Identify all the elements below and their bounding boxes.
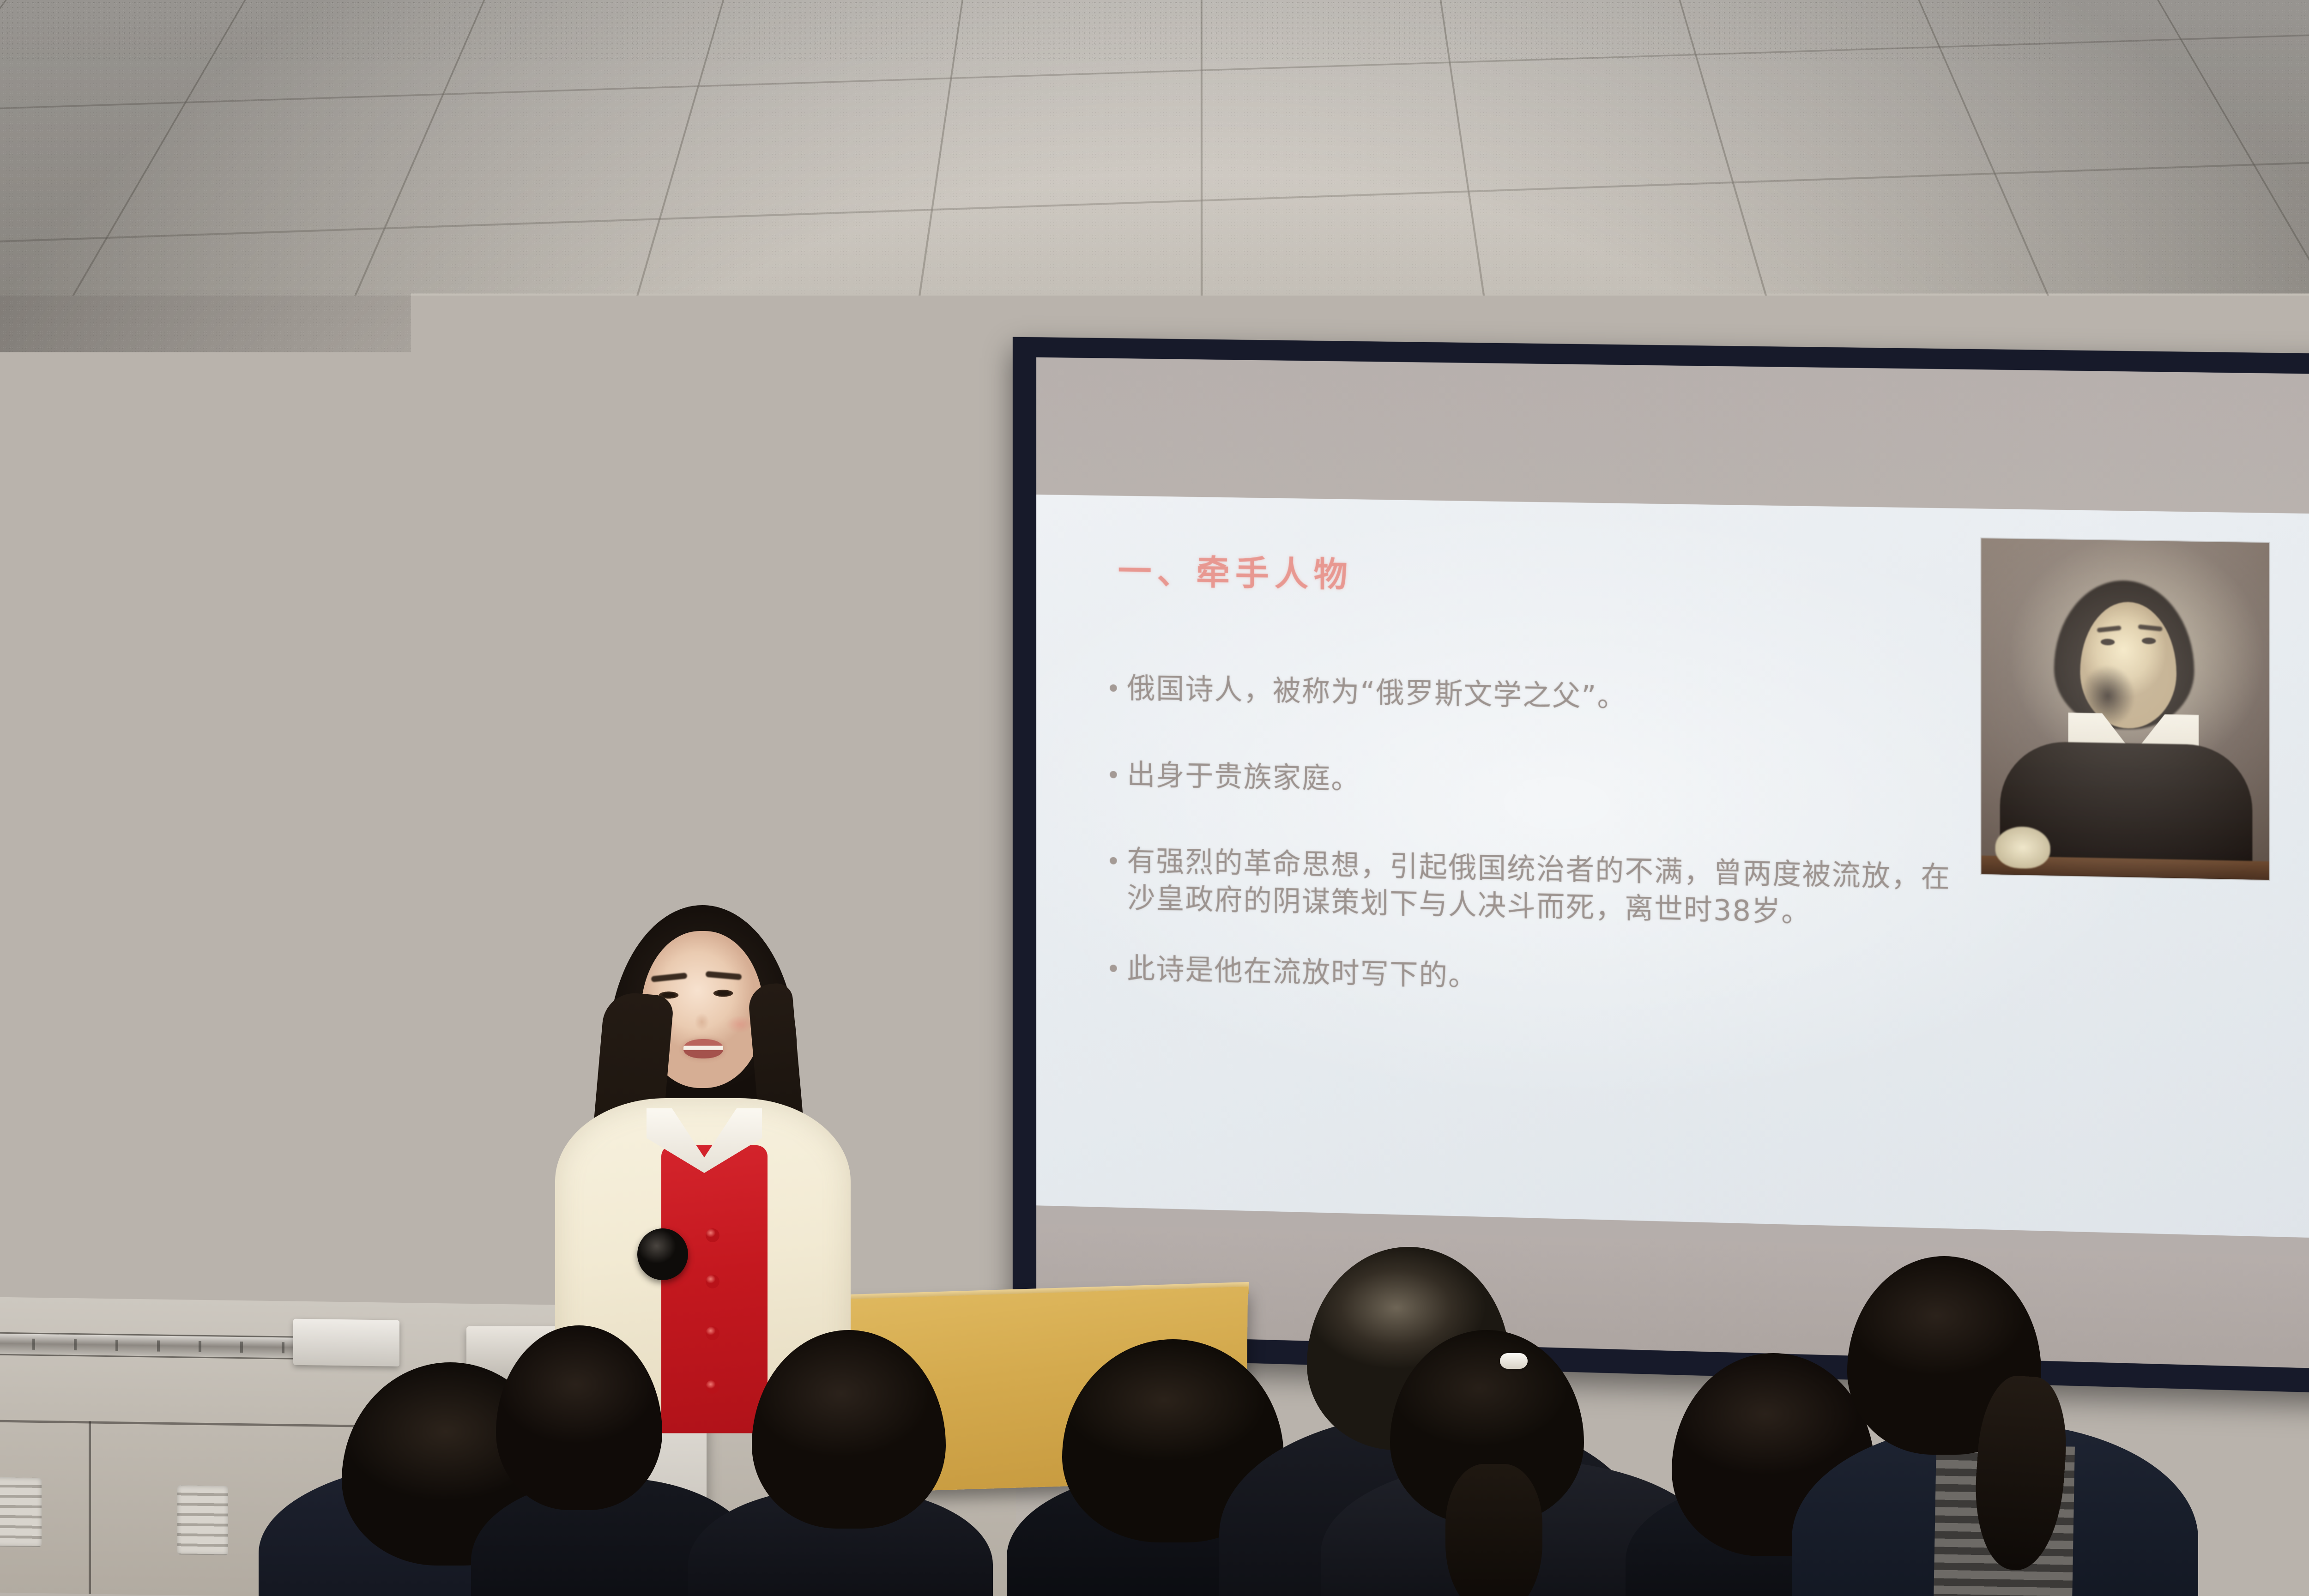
whiteboard-marker-3[interactable]: [615, 665, 631, 671]
projection-screen[interactable]: 一、牵手人物 俄国诗人，被称为“俄罗斯文学之父”。 出身于贵族家庭。 有强烈的革…: [1013, 337, 2309, 1394]
teacher-dress-button-2: [706, 1275, 719, 1288]
motto-char-4: 公: [562, 374, 715, 527]
slide-bullet-2-text: 出身于贵族家庭。: [1127, 756, 1360, 798]
projected-slide: 一、牵手人物 俄国诗人，被称为“俄罗斯文学之父”。 出身于贵族家庭。 有强烈的革…: [1036, 495, 2309, 1239]
teacher-lapel-microphone: [637, 1228, 688, 1280]
three-leaves-icon: [2170, 293, 2197, 317]
bullet-dot-icon: [1110, 684, 1117, 692]
pushkin-portrait-image: [1981, 538, 2269, 880]
whiteboard-eraser[interactable]: [873, 684, 886, 695]
classroom-photo-scene: THREELEAVES 立 身 为 公 假如生活欺骗了你 普希金: [0, 0, 2309, 1596]
cabinet-vent-2: [177, 1485, 228, 1555]
portrait-projector-glow: [1981, 538, 2269, 880]
bullet-dot-icon: [1110, 965, 1117, 972]
cabinet-vent-1: [0, 1477, 42, 1548]
teacher-mouth: [683, 1039, 723, 1058]
whiteboard-marker-2[interactable]: [351, 671, 367, 677]
teacher-dress-button-3: [706, 1326, 719, 1340]
wall-motto: 立 身 为 公: [0, 374, 715, 526]
audience-hand-1: [2249, 1372, 2309, 1441]
cabinet-seam-vertical: [89, 1421, 91, 1594]
audience-ponytail-6: [1445, 1464, 1542, 1596]
bullet-dot-icon: [1110, 857, 1117, 864]
cabinet-metal-rail: [0, 1332, 323, 1360]
slide-title: 一、牵手人物: [1118, 544, 1353, 597]
teacher-nose: [692, 1010, 712, 1034]
slide-bullet-4-text: 此诗是他在流放时写下的。: [1127, 950, 1477, 995]
teacher-dress-button-1: [706, 1228, 719, 1242]
bullet-dot-icon: [1110, 771, 1117, 778]
teacher-red-dress: [661, 1145, 768, 1464]
motto-char-3: 为: [365, 373, 519, 527]
teacher-dress-button-4: [706, 1380, 719, 1394]
projector-brand-label: THREELEAVES: [2218, 293, 2309, 314]
whiteboard-marker-1[interactable]: [111, 660, 127, 667]
motto-char-2: 身: [169, 374, 322, 527]
cabinet-white-box: [293, 1319, 399, 1366]
teacher-eye-right: [709, 988, 737, 999]
pearl-hair-clip-icon: [1500, 1353, 1528, 1369]
projector-brand-logo: THREELEAVES: [2170, 291, 2309, 317]
screen-unlit-top-band: [1036, 357, 2309, 514]
motto-char-1: 立: [0, 373, 126, 528]
projection-screen-surface: 一、牵手人物 俄国诗人，被称为“俄罗斯文学之父”。 出身于贵族家庭。 有强烈的革…: [1036, 357, 2309, 1369]
pink-bulletin-board: [2181, 1524, 2287, 1596]
slide-bullet-3-text: 有强烈的革命思想，引起俄国统治者的不满，曾两度被流放，在 沙皇政府的阴谋策划下与…: [1127, 843, 1951, 934]
